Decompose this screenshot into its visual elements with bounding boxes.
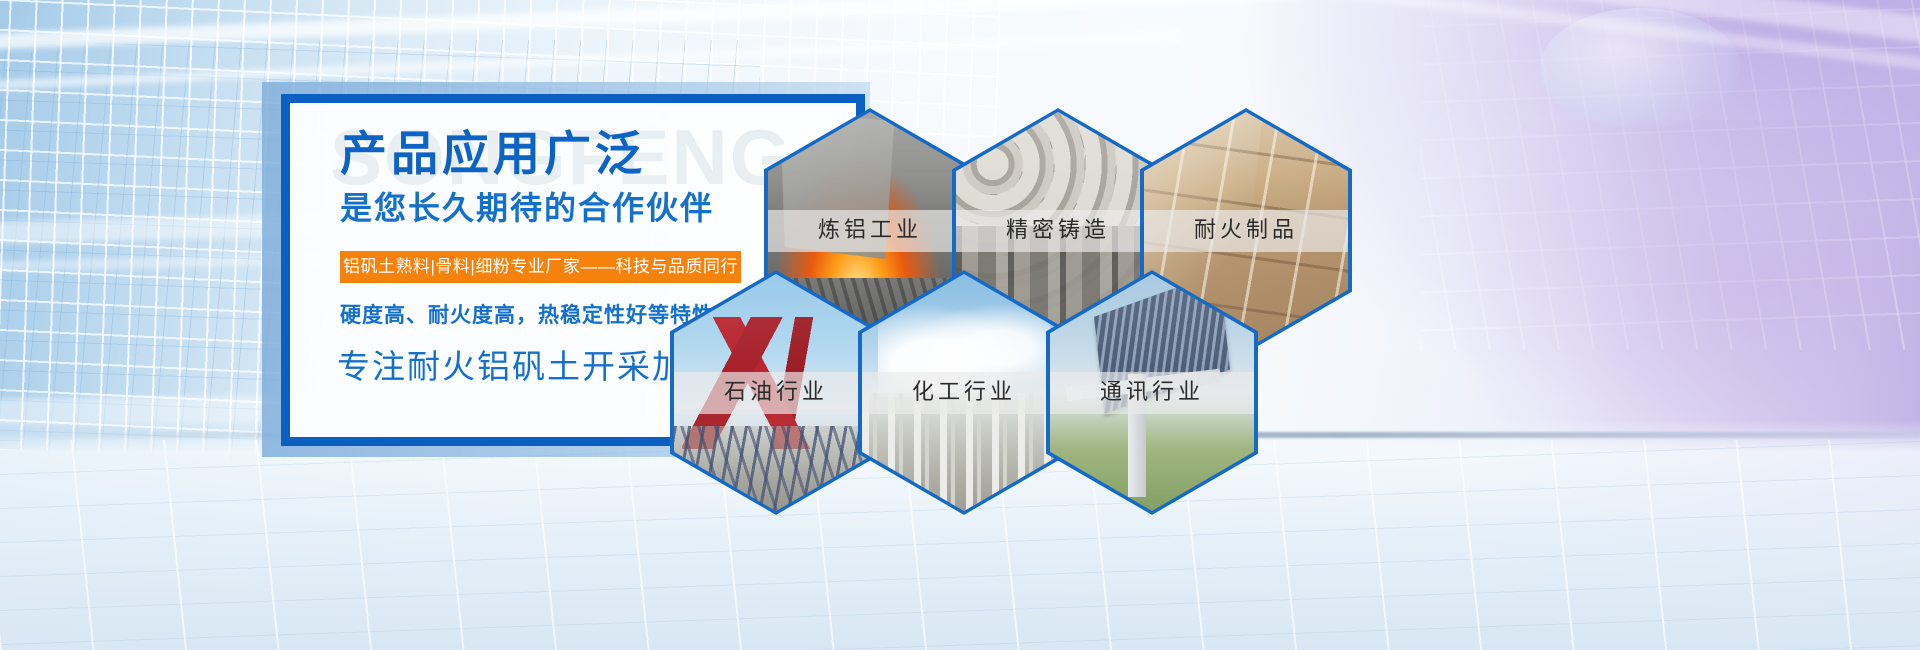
hex-label: 精密铸造 [956, 210, 1160, 252]
hex-label: 化工行业 [862, 372, 1066, 414]
headline: 产品应用广泛 [340, 130, 646, 177]
hex-label: 石油行业 [674, 372, 878, 414]
promo-banner: SONGFENG 产品应用广泛 是您长久期待的合作伙伴 铝矾土熟料|骨料|细粉专… [0, 0, 1920, 650]
hex-label: 耐火制品 [1144, 210, 1348, 252]
focus-text: 专注耐火铝矾土开采加工 [337, 350, 722, 383]
subheadline: 是您长久期待的合作伙伴 [340, 192, 714, 224]
hex-label: 炼铝工业 [768, 210, 972, 252]
orange-tagline-band: 铝矾土熟料|骨料|细粉专业厂家——科技与品质同行 [340, 251, 741, 283]
feature-text: 硬度高、耐火度高，热稳定性好等特性 [340, 305, 714, 326]
hex-label: 通讯行业 [1050, 372, 1254, 414]
